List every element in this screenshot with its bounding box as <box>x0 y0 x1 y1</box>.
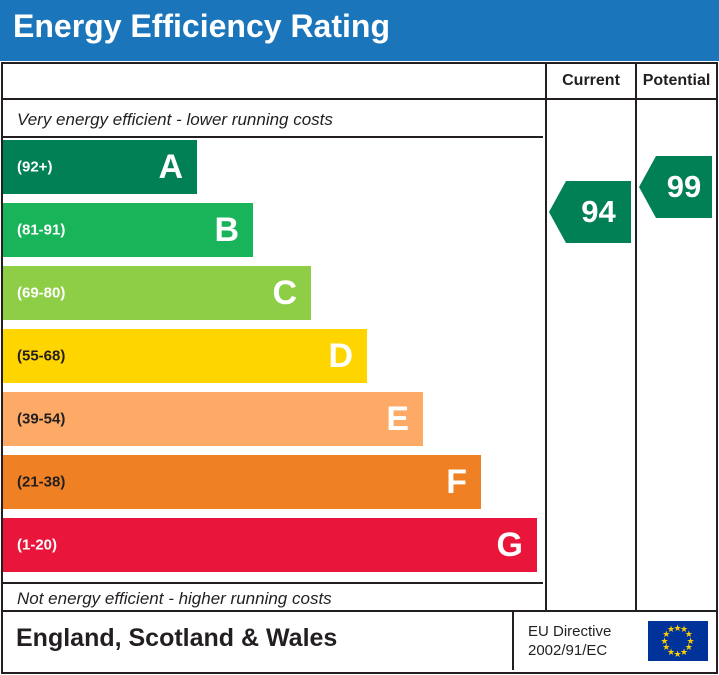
eu-star-icon: ★ <box>667 625 675 634</box>
potential-rating-marker: 99 <box>639 156 712 218</box>
band-range-d: (55-68) <box>17 348 65 365</box>
page-title: Energy Efficiency Rating <box>13 8 390 45</box>
band-bar-g: (1-20)G <box>3 518 537 572</box>
current-marker-arrow <box>549 181 566 243</box>
epc-certificate: Energy Efficiency Rating Current Potenti… <box>0 0 719 675</box>
caption-bottom: Not energy efficient - higher running co… <box>17 589 332 609</box>
caption-top: Very energy efficient - lower running co… <box>17 110 333 130</box>
band-bar-c: (69-80)C <box>3 266 311 320</box>
rating-chart: Current Potential Very energy efficient … <box>1 62 718 612</box>
footer-bar: England, Scotland & Wales EU Directive 2… <box>1 612 718 674</box>
band-bar-a: (92+)A <box>3 140 197 194</box>
current-rating-marker: 94 <box>549 181 631 243</box>
band-range-g: (1-20) <box>17 537 57 554</box>
band-range-c: (69-80) <box>17 285 65 302</box>
eu-directive-line2: 2002/91/EC <box>528 641 611 660</box>
potential-rating-value: 99 <box>656 156 712 218</box>
column-header-potential: Potential <box>635 64 716 98</box>
band-letter-g: G <box>497 528 523 562</box>
band-bars: (92+)A(81-91)B(69-80)C(55-68)D(39-54)E(2… <box>3 138 543 582</box>
eu-directive-label: EU Directive 2002/91/EC <box>528 622 611 660</box>
column-header-current: Current <box>545 64 635 98</box>
band-letter-b: B <box>214 213 239 247</box>
band-letter-a: A <box>158 150 183 184</box>
header-bar: Energy Efficiency Rating <box>0 0 719 61</box>
band-range-f: (21-38) <box>17 474 65 491</box>
current-rating-value: 94 <box>566 181 631 243</box>
column-divider-potential <box>635 100 637 610</box>
band-range-e: (39-54) <box>17 411 65 428</box>
column-divider-current <box>545 100 547 610</box>
band-bar-f: (21-38)F <box>3 455 481 509</box>
band-bar-d: (55-68)D <box>3 329 367 383</box>
band-range-a: (92+) <box>17 159 52 176</box>
band-letter-e: E <box>386 402 409 436</box>
potential-marker-arrow <box>639 156 656 218</box>
band-range-b: (81-91) <box>17 222 65 239</box>
band-bar-e: (39-54)E <box>3 392 423 446</box>
band-bar-b: (81-91)B <box>3 203 253 257</box>
band-letter-c: C <box>272 276 297 310</box>
eu-flag-icon: ★★★★★★★★★★★★ <box>648 621 708 661</box>
footer-divider <box>512 612 514 670</box>
caption-bottom-divider <box>3 582 543 584</box>
band-letter-d: D <box>328 339 353 373</box>
band-letter-f: F <box>446 465 467 499</box>
region-label: England, Scotland & Wales <box>16 624 337 653</box>
column-header-row: Current Potential <box>3 64 716 100</box>
eu-directive-line1: EU Directive <box>528 622 611 641</box>
